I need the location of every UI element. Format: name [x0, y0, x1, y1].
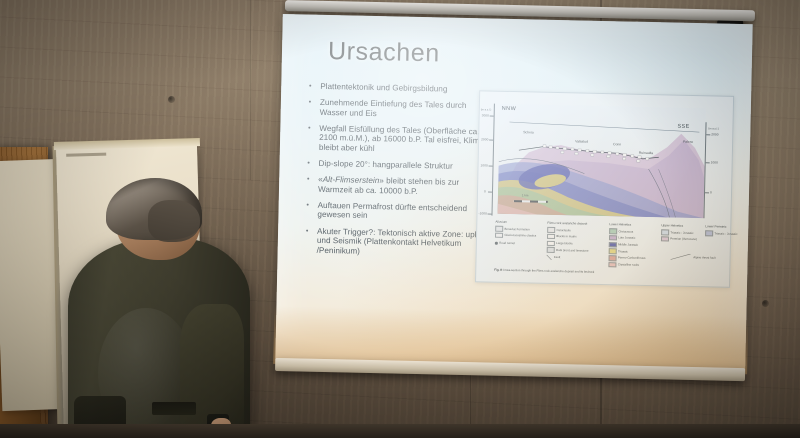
legend-swatch — [661, 236, 669, 242]
bullet-text: Akuter Trigger?: Tektonisch aktive Zone:… — [317, 226, 484, 255]
legend-row: Fault — [547, 255, 603, 261]
legend-label: Cataclasite — [556, 228, 570, 233]
legend-swatch — [547, 227, 555, 233]
left-axis — [491, 104, 494, 216]
legend-group-lower-helvetics: Lower Helvetics Cretaceous Late Jurassic… — [608, 222, 657, 269]
bullet-text: «Alt-Flimserstein» bleibt stehen bis zur… — [318, 175, 459, 196]
figure-caption-tag: Fig. 8 — [494, 268, 502, 272]
bullet-item: Dip-slope 20°: hangparallele Struktur — [305, 159, 485, 173]
legend-label: Blocks in matrix — [556, 234, 576, 239]
jacket-pocket — [152, 402, 196, 415]
legend-swatch — [609, 255, 617, 261]
presenter-hair-back — [148, 200, 200, 242]
legend-heading: Lower Penninic — [705, 224, 747, 230]
legend-swatch — [609, 248, 617, 254]
legend-swatch — [547, 240, 555, 246]
bullet-item: Auftauen Permafrost dürfte entscheidend … — [304, 200, 484, 223]
bullet-text: Zunehmende Eintiefung des Tales durch Wa… — [320, 98, 467, 118]
direction-label-right: SSE — [677, 124, 689, 130]
bullet-marker — [307, 178, 309, 180]
wall-hole — [168, 96, 175, 103]
legend-label: Large blocks — [556, 241, 572, 246]
legend-swatch — [705, 230, 713, 236]
legend-swatch — [661, 229, 669, 235]
bullet-text: Plattentektonik und Gebirgsbildung — [320, 82, 447, 94]
tick-label-left: 2000 — [481, 137, 488, 141]
room-photo-scene: Ursachen Plattentektonik und Gebirgsbild… — [0, 0, 800, 438]
axis-unit-right: (m a.s.l.) — [708, 127, 719, 130]
projection-screen: Ursachen Plattentektonik und Gebirgsbild… — [275, 6, 756, 388]
slide-title: Ursachen — [328, 37, 440, 68]
tick-label-left: 0 — [484, 189, 486, 193]
presenter — [60, 186, 265, 438]
legend-swatch — [609, 235, 617, 241]
legend-label: Crystalline rocks — [618, 262, 639, 267]
tick-label-right: 0 — [710, 190, 712, 194]
bullet-item: Wegfall Eisfüllung des Tales (Oberfläche… — [306, 123, 487, 156]
bullet-marker — [308, 162, 310, 164]
bullet-marker — [309, 85, 311, 87]
bullet-item: Zunehmende Eintiefung des Tales durch Wa… — [307, 98, 487, 121]
bullet-marker — [307, 203, 309, 205]
legend-label: Dark (iron) and limestone — [556, 248, 589, 253]
fault-annotation: Alpine thrust fault — [671, 254, 731, 262]
road-tunnel-icon — [495, 242, 498, 245]
bullet-text: Auftauen Permafrost dürfte entscheidend … — [317, 201, 467, 221]
figure-caption-text: Cross-section through the Flims rock ava… — [503, 268, 595, 274]
legend-row: Crystalline rocks — [608, 262, 656, 269]
legend-heading: Lower Helvetics — [609, 222, 657, 228]
legend-row: Triassic - Jurassic — [661, 229, 705, 236]
bullet-text: Dip-slope 20°: hangparallele Struktur — [318, 159, 452, 171]
tick-label-right: 2000 — [711, 132, 718, 136]
legend-swatch — [609, 242, 617, 248]
legend-swatch — [547, 234, 555, 240]
legend-row: Bonaduz Formation — [495, 226, 541, 233]
place-label: Valsalud — [575, 139, 588, 143]
place-label: Conn — [613, 142, 621, 146]
bullet-item: Plattentektonik und Gebirgsbildung — [307, 82, 487, 96]
figure-caption: Fig. 8 Cross-section through the Flims r… — [494, 268, 594, 274]
legend-label: Cretaceous — [618, 229, 633, 234]
legend-row: Middle Jurassic — [609, 242, 657, 249]
legend-row: Triassic — [609, 248, 657, 255]
legend-label: Permian (Verrucano) — [670, 237, 697, 242]
axis-unit-left: (m a.s.l.) — [481, 108, 492, 111]
legend-swatch — [495, 233, 503, 239]
legend-row: Glacio-lacustrine clastics — [495, 233, 541, 240]
bullet-item: «Alt-Flimserstein» bleibt stehen bis zur… — [305, 175, 485, 198]
flipchart-marking — [66, 153, 106, 157]
legend-label: Triassic - Jurassic — [714, 231, 737, 236]
legend-label: Fault — [554, 255, 561, 260]
legend-group-lower-penninic: Lower Penninic Triassic - Jurassic — [705, 224, 747, 238]
direction-label-left: NNW — [502, 106, 517, 112]
legend-row: Dark (iron) and limestone — [547, 247, 603, 254]
legend-group-upper-helvetics: Upper Helvetics Triassic - Jurassic Perm… — [661, 223, 705, 244]
tick-label-left: -1000 — [478, 211, 487, 215]
slide-bullet-list: Plattentektonik und Gebirgsbildung Zuneh… — [303, 82, 487, 266]
legend-row: Late Jurassic — [609, 235, 657, 242]
legend-heading: Flims rock avalanche deposit — [547, 221, 603, 227]
fault-annotation-label: Alpine thrust fault — [693, 255, 715, 259]
legend-group-alluvium: Alluvium Bonaduz Formation Glacio-lacust… — [495, 220, 542, 248]
legend-label: Middle Jurassic — [618, 242, 638, 247]
legend-row: Road tunnel — [495, 241, 541, 247]
legend-swatch — [609, 228, 617, 234]
bullet-marker — [308, 126, 310, 128]
legend-row: Triassic - Jurassic — [705, 230, 747, 237]
bullet-marker — [309, 101, 311, 103]
legend-row: Cretaceous — [609, 228, 657, 235]
fault-line-icon — [547, 255, 553, 259]
legend-swatch — [608, 262, 616, 268]
wall-hole — [762, 300, 769, 307]
legend-label: Glacio-lacustrine clastics — [504, 233, 536, 238]
legend-label: Bonaduz Formation — [504, 227, 529, 232]
wall-seam — [250, 0, 251, 180]
legend-row: Blocks in matrix — [547, 234, 603, 241]
bullet-item: Akuter Trigger?: Tektonisch aktive Zone:… — [304, 226, 485, 259]
legend-swatch — [495, 226, 503, 232]
legend-label: Triassic — [618, 249, 628, 254]
legend-label: Triassic - Jurassic — [670, 230, 693, 235]
bullet-marker — [306, 229, 308, 231]
tick-label-left: 1000 — [481, 163, 488, 167]
place-label: Falera — [683, 140, 693, 144]
legend-label: Permo-Carboniferous — [618, 256, 646, 261]
place-label: Ruinaulta — [639, 151, 653, 155]
legend-row: Permian (Verrucano) — [661, 236, 705, 243]
tick-label-left: 3000 — [482, 113, 489, 117]
floor-strip — [0, 424, 800, 438]
presentation-slide: Ursachen Plattentektonik und Gebirgsbild… — [275, 14, 752, 370]
legend-swatch — [547, 247, 555, 253]
legend-row: Large blocks — [547, 240, 603, 247]
legend-heading: Alluvium — [495, 220, 541, 226]
geology-figure: NNW SSE (m a.s.l.) (m a.s.l.) 3000 2000 … — [475, 90, 734, 288]
legend-label: Road tunnel — [499, 241, 515, 246]
legend-group-avalanche: Flims rock avalanche deposit Cataclasite… — [547, 221, 604, 262]
legend-heading: Upper Helvetics — [661, 223, 705, 229]
fault-leader-line-icon — [671, 254, 693, 261]
legend-row: Permo-Carboniferous — [609, 255, 657, 262]
scale-bar-label: 1 km — [522, 193, 529, 197]
figure-legend: Alluvium Bonaduz Formation Glacio-lacust… — [494, 220, 723, 271]
legend-row: Cataclasite — [547, 227, 603, 234]
legend-label: Late Jurassic — [618, 236, 635, 241]
bullet-text: Wegfall Eisfüllung des Tales (Oberfläche… — [319, 124, 484, 153]
place-label: Scheia — [523, 130, 533, 134]
tick-label-right: 1000 — [711, 160, 718, 164]
